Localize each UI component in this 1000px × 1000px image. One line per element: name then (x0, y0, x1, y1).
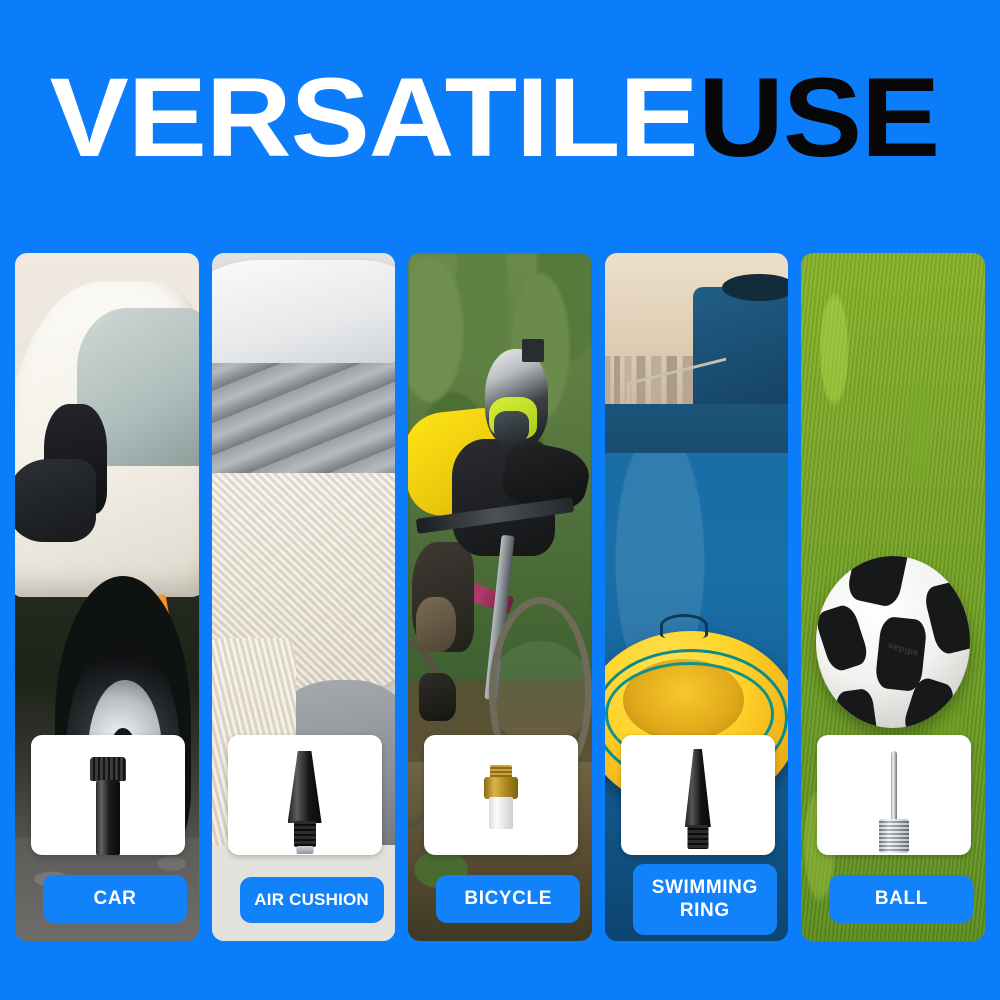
panel-label-ball[interactable]: BALL (829, 875, 973, 923)
pillow-shape (212, 260, 396, 370)
rider-goggles-shape (494, 411, 529, 442)
swim-ring-handle-shape (660, 614, 708, 637)
nozzle-card-car (31, 735, 185, 855)
ball-panel-shape (816, 603, 871, 674)
rider-knee-pad-shape (416, 597, 456, 652)
nozzle-white-base-icon (489, 797, 513, 829)
panel-label-bicycle[interactable]: BICYCLE (436, 875, 580, 923)
use-case-panel-bicycle[interactable]: BICYCLE (408, 253, 592, 941)
use-case-panel-air-cushion[interactable]: AIR CUSHION (212, 253, 396, 941)
ball-panel-shape (922, 579, 970, 656)
nozzle-card-air-cushion (228, 735, 382, 855)
ball-panel-shape (846, 556, 913, 609)
nozzle-thread-icon (294, 821, 316, 847)
nozzle-thread-icon (687, 825, 708, 849)
nozzle-card-bicycle (424, 735, 578, 855)
pool-structure-top-shape (722, 274, 788, 302)
nozzle-needle-icon (891, 751, 897, 827)
nozzle-cone-icon (288, 751, 322, 823)
pool-deck-shape (605, 404, 789, 459)
nozzle-long-cone-icon (685, 749, 711, 827)
helmet-camera-shape (522, 339, 544, 362)
soccer-ball-shape: adidas (816, 556, 970, 728)
nozzle-knurled-base-icon (879, 819, 909, 853)
title-word-use: USE (698, 62, 939, 174)
nozzle-card-ball (817, 735, 971, 855)
nozzle-cap-icon (90, 757, 126, 781)
panel-label-car[interactable]: CAR (43, 875, 187, 923)
car-side-mirror-shape (15, 459, 96, 542)
nozzle-barrel-icon (96, 780, 120, 855)
use-case-panel-swimming-ring[interactable]: SWIMMING RING (605, 253, 789, 941)
title-word-versatile: VERSATILE (49, 62, 697, 174)
page-title: VERSATILEUSE (0, 62, 1000, 174)
use-case-panel-ball[interactable]: adidas BALL (801, 253, 985, 941)
rider-shoe-shape (419, 673, 456, 721)
use-case-panel-strip: CAR AIR CUSHION (15, 253, 985, 943)
use-case-panel-car[interactable]: CAR (15, 253, 199, 941)
nozzle-tip-icon (296, 846, 313, 854)
nozzle-card-swimming-ring (621, 735, 775, 855)
panel-label-swimming-ring[interactable]: SWIMMING RING (633, 864, 777, 935)
nozzle-brass-hex-icon (484, 777, 518, 799)
ball-panel-shape (834, 688, 878, 728)
panel-label-air-cushion[interactable]: AIR CUSHION (240, 877, 384, 923)
